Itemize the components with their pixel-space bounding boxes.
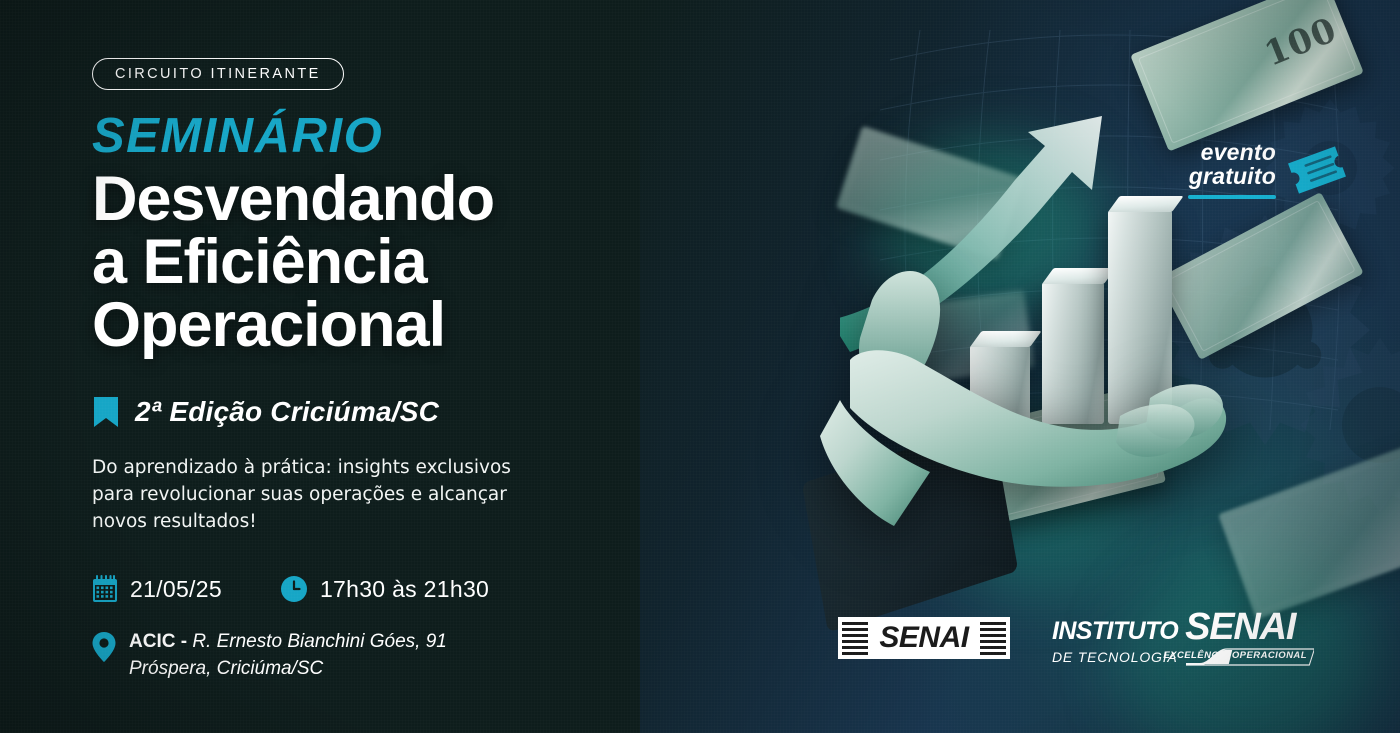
date-item: 21/05/25 — [92, 575, 222, 603]
instituto-label: INSTITUTO — [1052, 617, 1178, 646]
banknote-denomination: 100 — [1259, 10, 1343, 75]
free-event-line-2: gratuito — [1188, 164, 1276, 188]
description-line-1: Do aprendizado à prática: insights exclu… — [92, 455, 562, 482]
edition-row: 2ª Edição Criciúma/SC — [92, 395, 752, 429]
page-title: Desvendando a Eficiência Operacional — [92, 168, 752, 357]
calendar-icon — [92, 575, 118, 603]
excelencia-label: EXCELÊNCIA OPERACIONAL — [1163, 650, 1307, 661]
venue-name: ACIC - — [129, 631, 192, 652]
instituto-senai-label: SENAI — [1185, 610, 1295, 644]
ticket-icon — [1286, 142, 1348, 198]
title-line-1: Desvendando — [92, 168, 752, 231]
circuit-badge: CIRCUITO ITINERANTE — [92, 58, 344, 90]
free-event-text-block: evento gratuito — [1188, 140, 1276, 199]
instituto-senai-logo-top: INSTITUTO SENAI — [1052, 610, 1314, 646]
kicker-seminario: SEMINÁRIO — [92, 112, 752, 160]
city-address: Próspera, Criciúma/SC — [129, 656, 447, 683]
clock-icon — [280, 575, 308, 603]
address-text: ACIC - R. Ernesto Bianchini Góes, 91 Pró… — [129, 629, 447, 683]
time-item: 17h30 às 21h30 — [280, 575, 489, 603]
instituto-senai-logo-bottom: DE TECNOLOGIA EXCELÊNCIA OPERACIONAL — [1052, 647, 1314, 667]
description-line-2: para revolucionar suas operações e alcan… — [92, 482, 562, 509]
datetime-row: 21/05/25 17h30 às 21h30 — [92, 575, 752, 603]
tecnologia-label: DE TECNOLOGIA — [1052, 649, 1178, 665]
title-line-2: a Eficiência — [92, 231, 752, 294]
location-pin-icon — [92, 631, 116, 663]
excelencia-ribbon: EXCELÊNCIA OPERACIONAL — [1186, 647, 1314, 667]
address-row: ACIC - R. Ernesto Bianchini Góes, 91 Pró… — [92, 629, 752, 683]
event-time: 17h30 às 21h30 — [320, 576, 489, 603]
content-column: CIRCUITO ITINERANTE SEMINÁRIO Desvendand… — [92, 0, 752, 733]
senai-logo-stripes-right — [980, 621, 1006, 655]
hand-bar-chart-illustration — [820, 60, 1240, 620]
event-banner: 100 — [0, 0, 1400, 733]
instituto-senai-logo: INSTITUTO SENAI DE TECNOLOGIA EXCELÊNCIA… — [1052, 610, 1314, 668]
free-event-text: evento gratuito — [1188, 140, 1276, 188]
senai-logo: SENAI — [838, 617, 1010, 659]
description-line-3: novos resultados! — [92, 509, 562, 536]
bookmark-icon — [92, 395, 120, 429]
open-hand-illustration — [820, 240, 1240, 570]
edition-label: 2ª Edição Criciúma/SC — [135, 396, 439, 428]
free-event-underline — [1188, 195, 1276, 199]
street-address: R. Ernesto Bianchini Góes, 91 — [192, 631, 447, 652]
senai-logo-text: SENAI — [875, 621, 972, 655]
senai-logo-stripes-left — [842, 621, 868, 655]
title-line-3: Operacional — [92, 294, 752, 357]
free-event-badge: evento gratuito — [1188, 140, 1348, 199]
free-event-line-1: evento — [1188, 140, 1276, 164]
description: Do aprendizado à prática: insights exclu… — [92, 455, 562, 535]
event-date: 21/05/25 — [130, 576, 222, 603]
